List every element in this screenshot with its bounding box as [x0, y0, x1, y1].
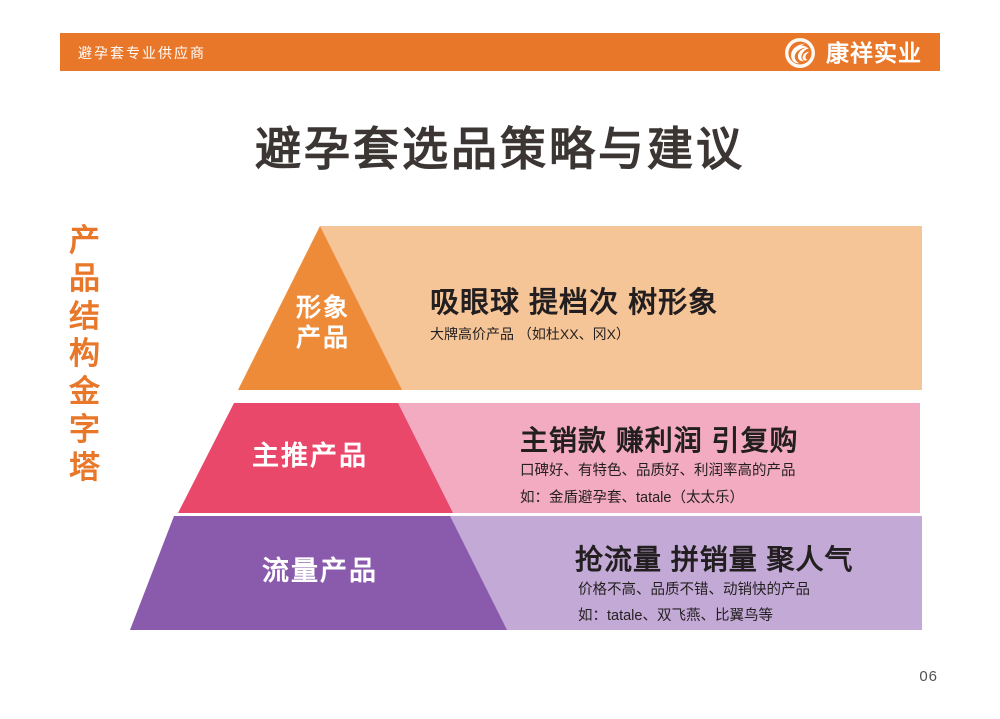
- leaf-swirl-emblem-icon: [783, 36, 817, 70]
- tier-label-1: 形象 产品: [280, 294, 366, 353]
- tier-subline-2-0: 口碑好、有特色、品质好、利润率高的产品: [520, 459, 796, 480]
- tier-subline-1-0: 大牌高价产品 （如杜XX、冈X）: [430, 324, 630, 344]
- tier-label-3: 流量产品: [235, 556, 405, 588]
- tier-subline-3-1: 如：tatale、双飞燕、比翼鸟等: [578, 604, 773, 625]
- header-tagline: 避孕套专业供应商: [78, 43, 206, 63]
- page-number: 06: [919, 668, 938, 685]
- tier-label-2: 主推产品: [225, 441, 395, 473]
- product-structure-pyramid: 形象 产品 吸眼球 提档次 树形象 大牌高价产品 （如杜XX、冈X） 主推产品 …: [130, 220, 930, 630]
- section-vertical-label: 产品结构金字塔: [60, 222, 110, 487]
- page-title: 避孕套选品策略与建议: [0, 113, 1000, 179]
- pyramid-tier-image-product: 形象 产品 吸眼球 提档次 树形象 大牌高价产品 （如杜XX、冈X）: [130, 226, 922, 390]
- pyramid-tier-traffic-product: 流量产品 抢流量 拼销量 聚人气 价格不高、品质不错、动销快的产品 如：tata…: [130, 516, 922, 630]
- brand-logo: 康祥实业: [783, 36, 922, 70]
- pyramid-tier-main-product: 主推产品 主销款 赚利润 引复购 口碑好、有特色、品质好、利润率高的产品 如：金…: [130, 403, 920, 513]
- tier-subline-3-0: 价格不高、品质不错、动销快的产品: [578, 578, 810, 599]
- slide-canvas: 避孕套专业供应商 康祥实业 避孕套选品策略与建议 产品结构金字塔 形象 产品 吸…: [0, 0, 1000, 719]
- tier-headline-2: 主销款 赚利润 引复购: [520, 419, 799, 459]
- tier-headline-3: 抢流量 拼销量 聚人气: [575, 538, 854, 578]
- tier-headline-1: 吸眼球 提档次 树形象: [430, 279, 718, 321]
- tier-subline-2-1: 如：金盾避孕套、tatale（太太乐）: [520, 486, 744, 507]
- brand-name: 康祥实业: [826, 42, 922, 65]
